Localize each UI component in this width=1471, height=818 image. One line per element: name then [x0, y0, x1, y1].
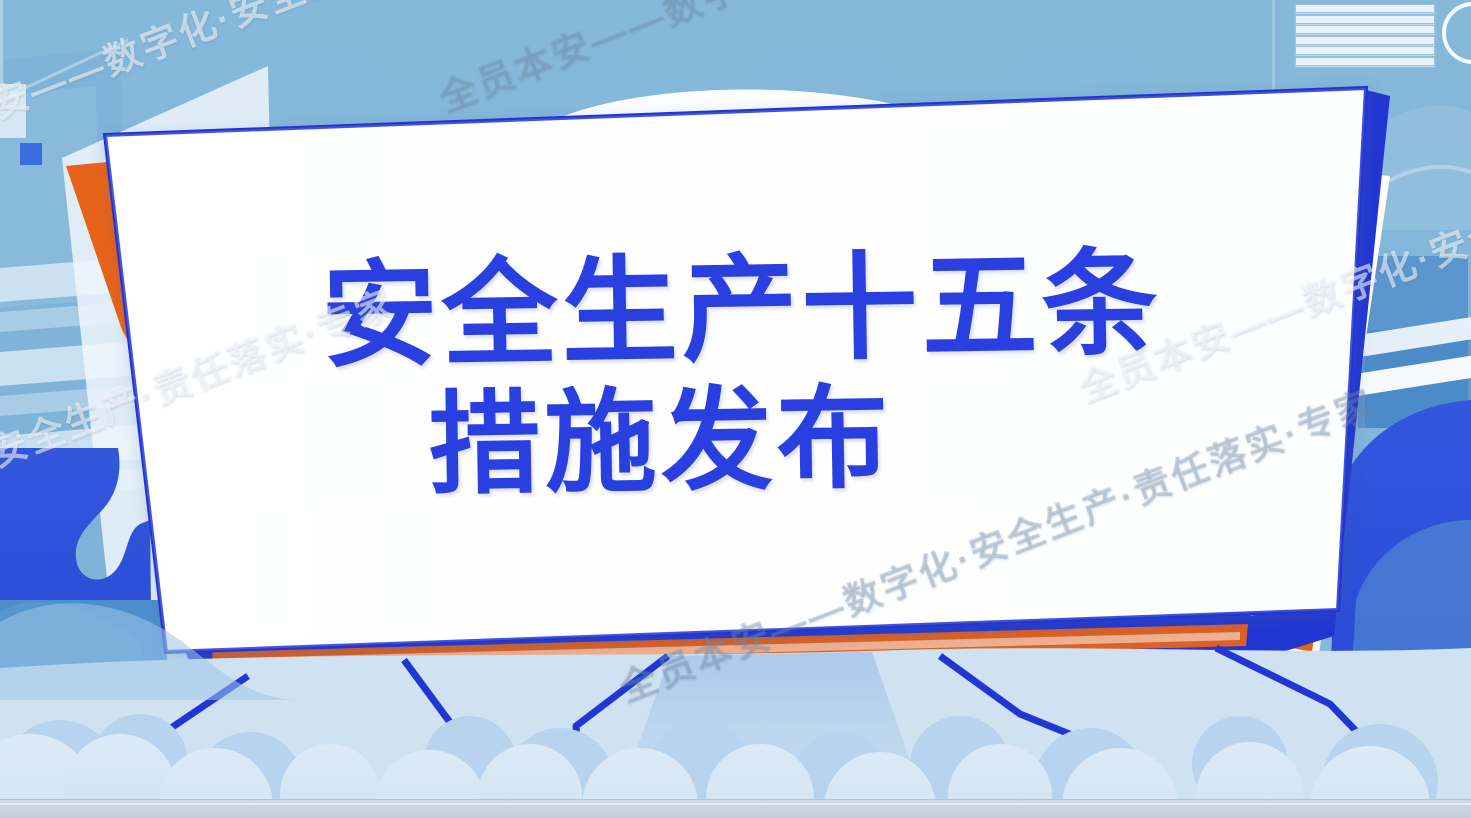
doc-line-2: [1295, 15, 1435, 24]
blue-accent-square: [20, 143, 42, 165]
player-progress-rail[interactable]: [0, 803, 1471, 805]
slide-canvas: 安全生产十五条 措施发布 全员本安——数字化·安全生产·责任落实·专家全员本安—…: [0, 0, 1471, 818]
title-block: 安全生产十五条 措施发布: [0, 240, 1471, 510]
player-control-strip[interactable]: [0, 799, 1471, 818]
doc-line-6: [1295, 57, 1435, 66]
doc-line-5: [1295, 46, 1435, 55]
title-line-primary: 安全生产十五条: [12, 240, 1471, 381]
doc-line-4: [1295, 36, 1435, 45]
doc-line-1: [1295, 4, 1435, 13]
document-lines-graphic: [1295, 4, 1435, 66]
doc-line-3: [1295, 25, 1435, 34]
